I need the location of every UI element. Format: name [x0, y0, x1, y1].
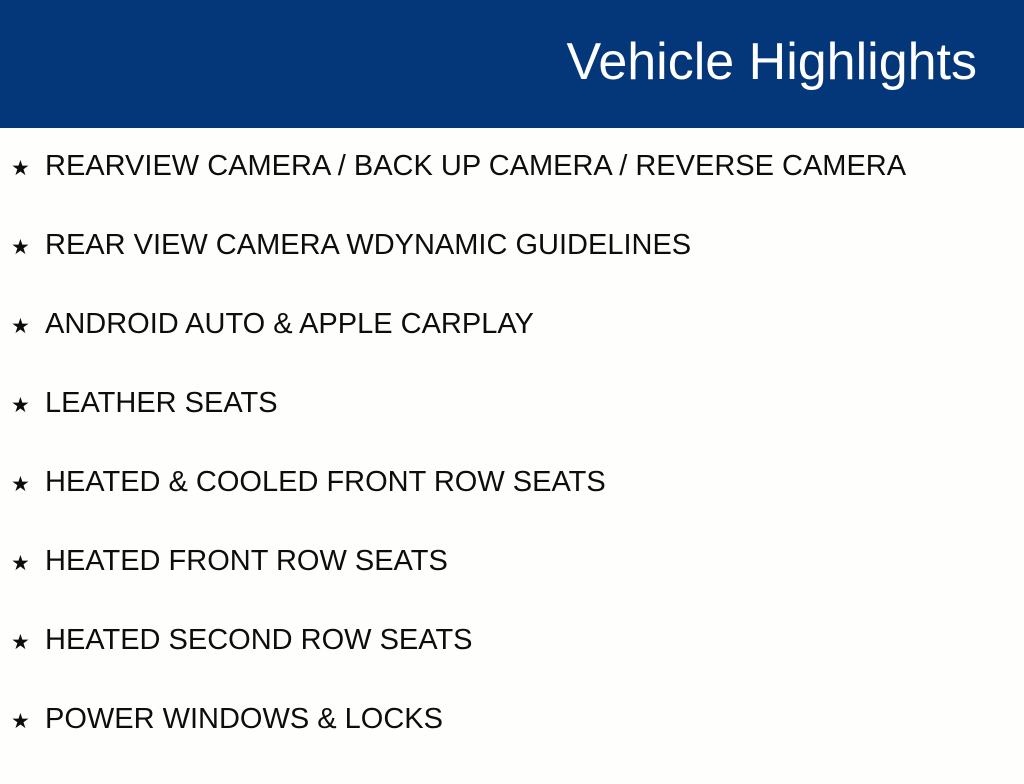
- star-icon: ★: [11, 553, 45, 574]
- list-item: ★ REAR VIEW CAMERA WDYNAMIC GUIDELINES: [0, 231, 1024, 310]
- vehicle-highlights-list: ★ REARVIEW CAMERA / BACK UP CAMERA / REV…: [0, 128, 1024, 784]
- star-icon: ★: [11, 632, 45, 653]
- list-item: ★ HEATED SECOND ROW SEATS: [0, 626, 1024, 705]
- list-item: ★ HEATED FRONT ROW SEATS: [0, 547, 1024, 626]
- list-item: ★ LEATHER SEATS: [0, 389, 1024, 468]
- list-item-label: REARVIEW CAMERA / BACK UP CAMERA / REVER…: [45, 152, 906, 181]
- vehicle-highlights-slide: Vehicle Highlights ★ REARVIEW CAMERA / B…: [0, 0, 1024, 768]
- list-item-label: LEATHER SEATS: [45, 389, 278, 418]
- list-item-label: HEATED SECOND ROW SEATS: [45, 626, 473, 655]
- header-banner: Vehicle Highlights: [0, 0, 1024, 128]
- list-item-label: ANDROID AUTO & APPLE CARPLAY: [45, 310, 534, 339]
- star-icon: ★: [11, 474, 45, 495]
- star-icon: ★: [11, 395, 45, 416]
- star-icon: ★: [11, 237, 45, 258]
- list-item: ★ REARVIEW CAMERA / BACK UP CAMERA / REV…: [0, 152, 1024, 231]
- list-item-label: HEATED & COOLED FRONT ROW SEATS: [45, 468, 606, 497]
- star-icon: ★: [11, 316, 45, 337]
- list-item: ★ POWER WINDOWS & LOCKS: [0, 705, 1024, 784]
- list-item: ★ HEATED & COOLED FRONT ROW SEATS: [0, 468, 1024, 547]
- page-title: Vehicle Highlights: [567, 36, 977, 88]
- star-icon: ★: [11, 711, 45, 732]
- list-item-label: POWER WINDOWS & LOCKS: [45, 705, 443, 734]
- list-item: ★ ANDROID AUTO & APPLE CARPLAY: [0, 310, 1024, 389]
- list-item-label: HEATED FRONT ROW SEATS: [45, 547, 448, 576]
- star-icon: ★: [11, 158, 45, 179]
- list-item-label: REAR VIEW CAMERA WDYNAMIC GUIDELINES: [45, 231, 691, 260]
